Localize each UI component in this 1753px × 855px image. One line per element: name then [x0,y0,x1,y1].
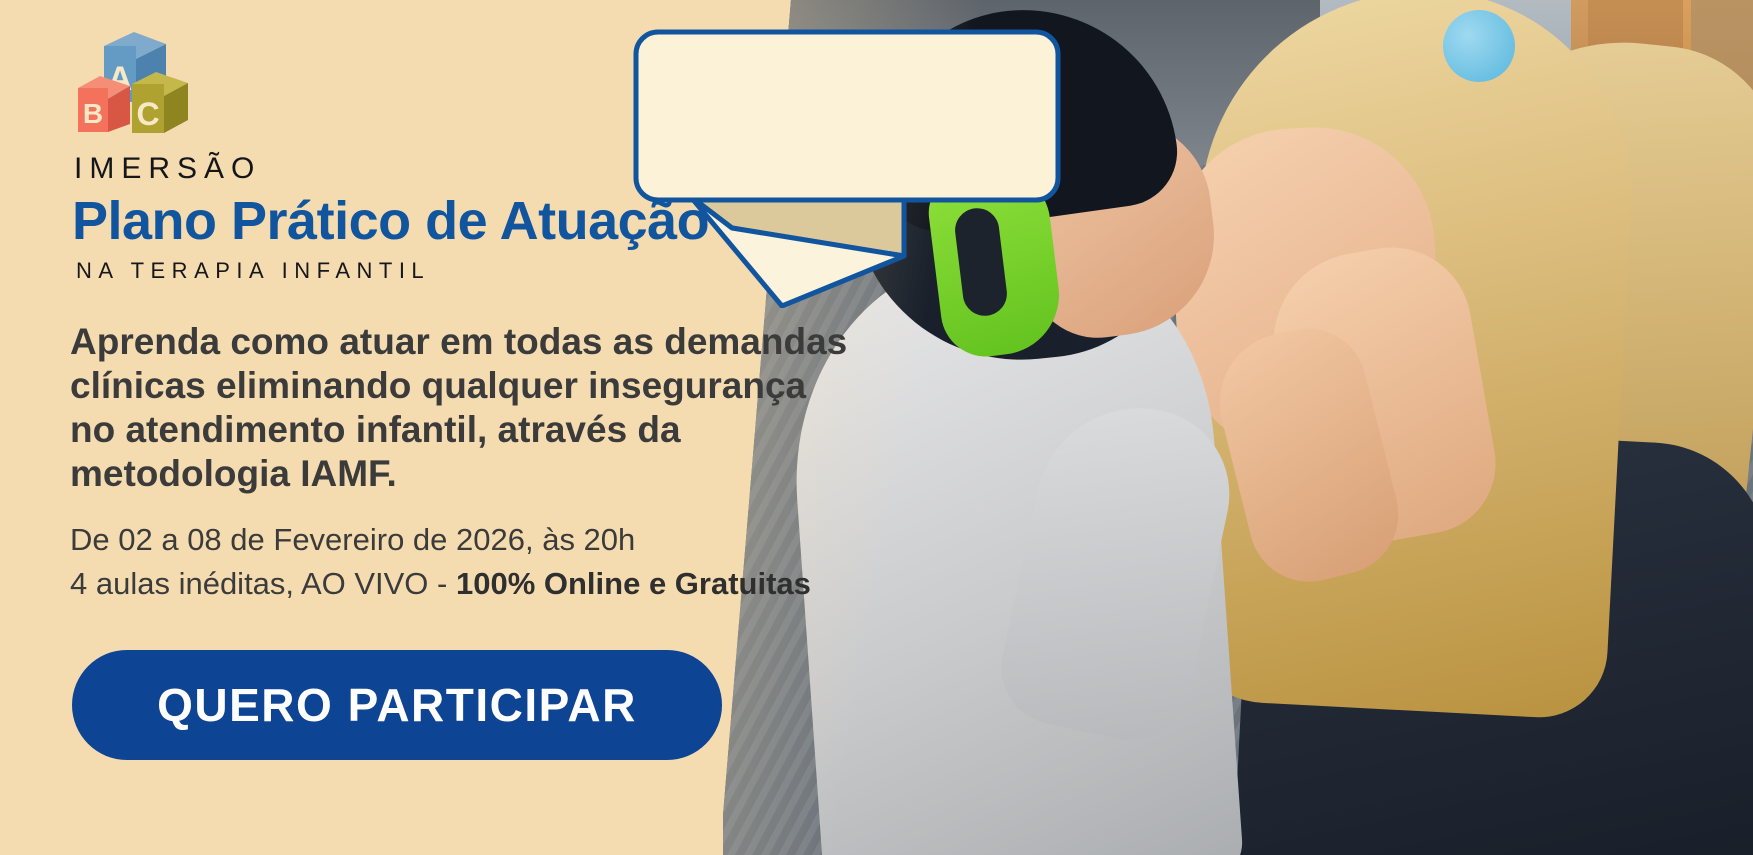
schedule-block: De 02 a 08 de Fevereiro de 2026, às 20h … [70,518,950,606]
svg-text:C: C [136,96,159,132]
speech-bubble [632,28,1062,308]
page-subtitle: NA TERAPIA INFANTIL [76,258,430,284]
block-c-icon: C [132,72,188,133]
abc-blocks-logo: A B C [74,28,196,134]
hair-clip [1443,10,1515,82]
schedule-line-2-plain: 4 aulas inéditas, AO VIVO - [70,566,456,601]
block-b-icon: B [78,76,130,132]
schedule-line-1: De 02 a 08 de Fevereiro de 2026, às 20h [70,518,950,562]
svg-text:B: B [83,98,103,129]
schedule-line-2-highlight: 100% Online e Gratuitas [456,566,811,601]
schedule-line-2: 4 aulas inéditas, AO VIVO - 100% Online … [70,562,950,606]
lead-paragraph: Aprenda como atuar em todas as demandas … [70,320,860,496]
promo-banner: Ei, PSICO INFANTIL A B [0,0,1753,855]
page-title: Plano Prático de Atuação [72,190,709,252]
bubble-body [636,32,1058,200]
quero-participar-button[interactable]: QUERO PARTICIPAR [72,650,722,760]
eyebrow-label: IMERSÃO [74,152,261,186]
